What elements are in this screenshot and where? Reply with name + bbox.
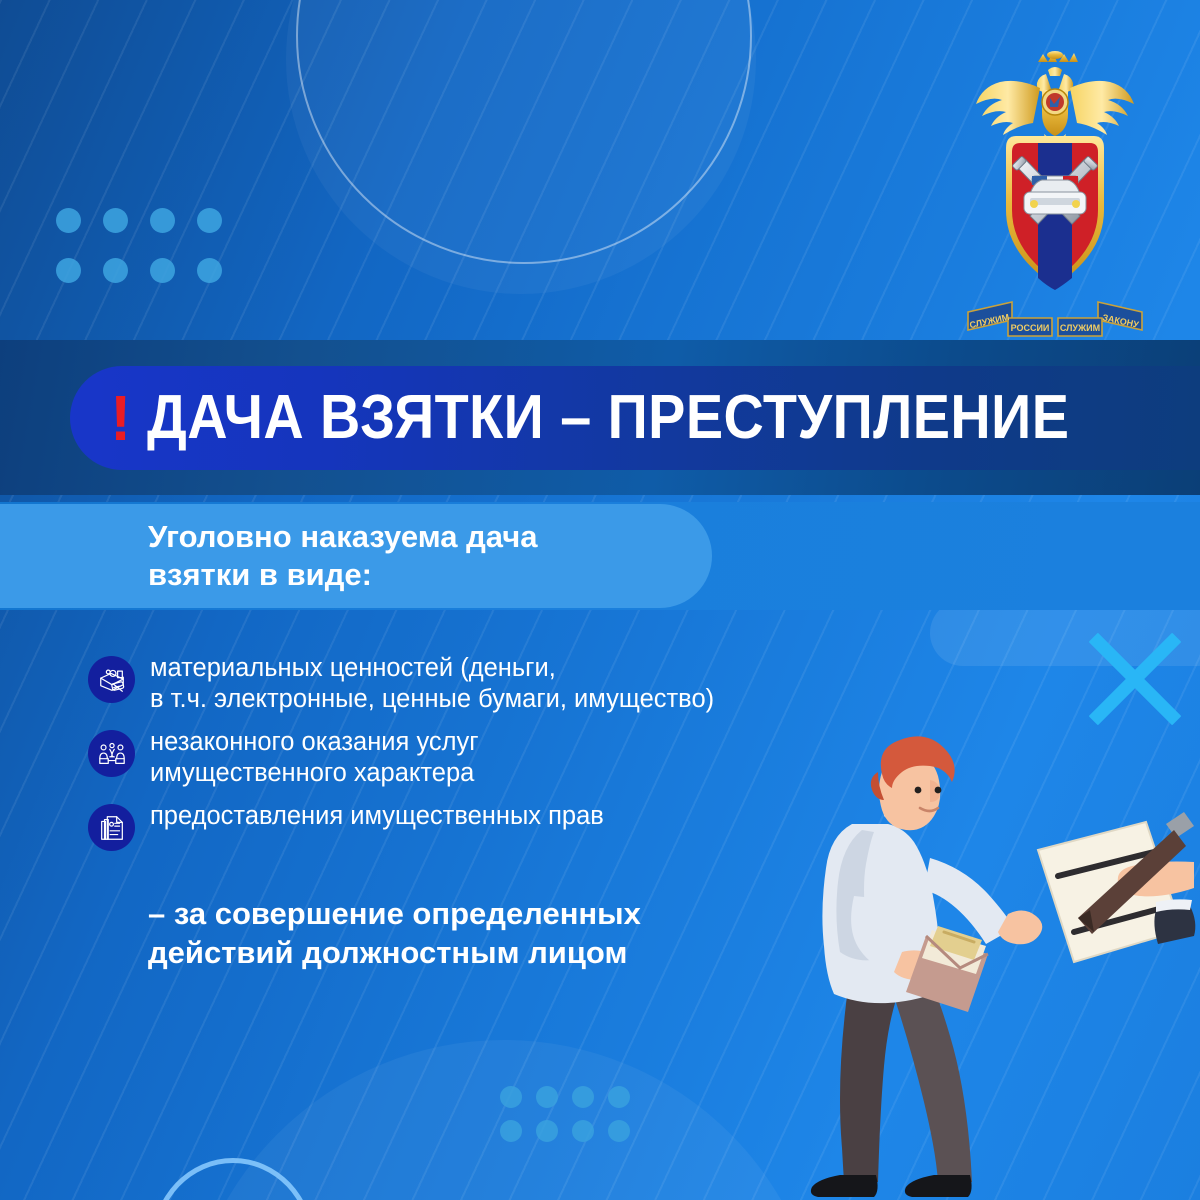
- mvd-gibdd-emblem: СЛУЖИМ РОССИИ СЛУЖИМ ЗАКОНУ: [960, 40, 1150, 340]
- ribbon-text-center-left: РОССИИ: [1011, 323, 1050, 333]
- list-item-label: материальных ценностей (деньги, в т.ч. э…: [150, 652, 714, 714]
- list-item-label: незаконного оказания услуг имущественног…: [150, 726, 479, 788]
- subheading-banner: Уголовно наказуема дача взятки в виде:: [0, 504, 712, 608]
- page-title: ДАЧА ВЗЯТКИ – ПРЕСТУПЛЕНИЕ: [147, 387, 1069, 449]
- ribbon-text-center-right: СЛУЖИМ: [1060, 323, 1100, 333]
- people-service-exchange-icon: [88, 730, 135, 777]
- bottom-dot-grid-decoration: [500, 1086, 644, 1154]
- patrol-car-icon: [1024, 176, 1086, 214]
- list-item: материальных ценностей (деньги, в т.ч. э…: [88, 652, 968, 714]
- top-dot-grid-decoration: [56, 208, 244, 308]
- poster-canvas: СЛУЖИМ РОССИИ СЛУЖИМ ЗАКОНУ ! ДАЧА ВЗЯТК…: [0, 0, 1200, 1200]
- subheading-text: Уголовно наказуема дача взятки в виде:: [148, 518, 537, 594]
- document-rights-icon: [88, 804, 135, 851]
- police-shield-icon: [1006, 136, 1104, 290]
- motto-ribbon: СЛУЖИМ РОССИИ СЛУЖИМ ЗАКОНУ: [968, 302, 1142, 336]
- title-banner: ! ДАЧА ВЗЯТКИ – ПРЕСТУПЛЕНИЕ: [70, 366, 1200, 470]
- envelope-with-money-icon: [88, 656, 135, 703]
- bribe-handover-illustration: [780, 720, 1200, 1200]
- double-headed-eagle-icon: [976, 51, 1134, 149]
- alert-exclamation-icon: !: [110, 386, 131, 450]
- list-item-label: предоставления имущественных прав: [150, 800, 604, 832]
